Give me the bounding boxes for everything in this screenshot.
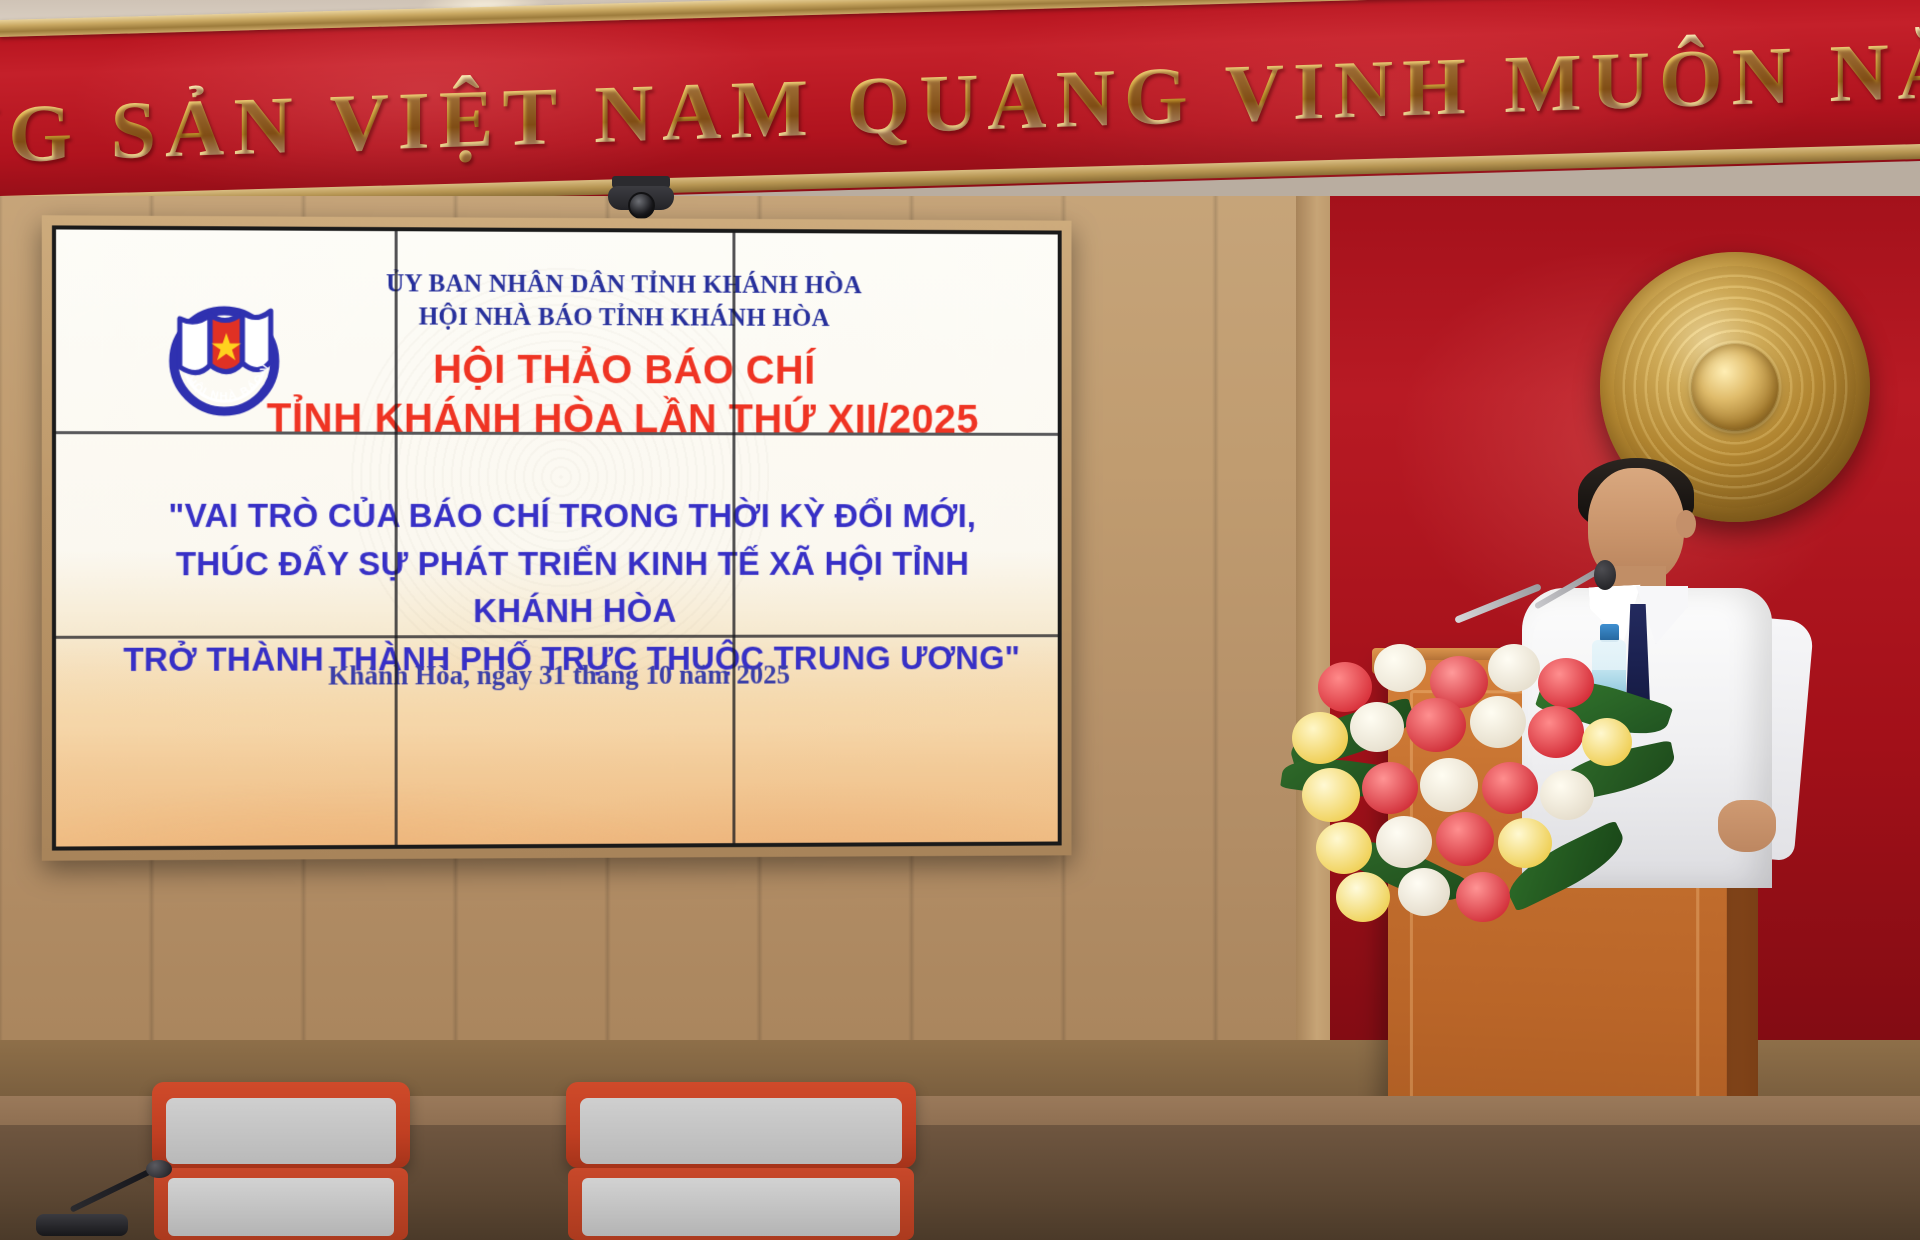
speaker-hand	[1718, 800, 1776, 852]
led-screen: HỘI NHÀ BÁO VIỆT NAM VJA ỦY BAN NHÂN DÂN…	[56, 229, 1058, 846]
led-seam-vertical-2	[732, 233, 735, 843]
slide-organizer-block: ỦY BAN NHÂN DÂN TỈNH KHÁNH HÒA HỘI NHÀ B…	[274, 267, 972, 337]
gong-boss	[1692, 344, 1778, 430]
chair-right-back-cushion	[580, 1098, 902, 1164]
slide-content: HỘI NHÀ BÁO VIỆT NAM VJA ỦY BAN NHÂN DÂN…	[56, 229, 1058, 846]
slide-date-line: Khánh Hòa, ngày 31 tháng 10 năm 2025	[208, 659, 908, 692]
desk-microphone-base	[36, 1214, 128, 1236]
chair-right	[566, 1082, 916, 1240]
speaker-ear	[1676, 510, 1696, 538]
microphone-head-icon	[1594, 560, 1616, 590]
led-wall-bezel: HỘI NHÀ BÁO VIỆT NAM VJA ỦY BAN NHÂN DÂN…	[52, 225, 1062, 850]
led-seam-vertical-1	[395, 231, 398, 845]
chair-right-seat-cushion	[582, 1178, 900, 1236]
event-title-line-1: HỘI THẢO BÁO CHÍ	[208, 345, 1036, 396]
led-video-wall: HỘI NHÀ BÁO VIỆT NAM VJA ỦY BAN NHÂN DÂN…	[42, 215, 1072, 860]
chair-left-back-cushion	[166, 1098, 396, 1164]
theme-line-2: THÚC ĐẨY SỰ PHÁT TRIỂN KINH TẾ XÃ HỘI TỈ…	[117, 540, 1026, 636]
flower-arrangement	[1288, 640, 1678, 970]
chair-left-seat-cushion	[168, 1178, 394, 1236]
conference-hall-scene: NG SẢN VIỆT NAM QUANG VINH MUÔN NĂM	[0, 0, 1920, 1240]
event-title-line-2: TỈNH KHÁNH HÒA LẦN THỨ XII/2025	[208, 394, 1036, 445]
theme-line-1: "VAI TRÒ CỦA BÁO CHÍ TRONG THỜI KỲ ĐỔI M…	[117, 492, 1026, 540]
slide-theme-block: "VAI TRÒ CỦA BÁO CHÍ TRONG THỜI KỲ ĐỔI M…	[117, 492, 1026, 683]
chair-left	[152, 1082, 410, 1240]
organizer-line-1: ỦY BAN NHÂN DÂN TỈNH KHÁNH HÒA	[274, 267, 972, 303]
organizer-line-2: HỘI NHÀ BÁO TỈNH KHÁNH HÒA	[274, 300, 972, 337]
camera-lens-icon	[628, 192, 655, 219]
slide-event-title: HỘI THẢO BÁO CHÍ TỈNH KHÁNH HÒA LẦN THỨ …	[208, 345, 1036, 445]
desk-microphone-head-icon	[146, 1160, 172, 1178]
